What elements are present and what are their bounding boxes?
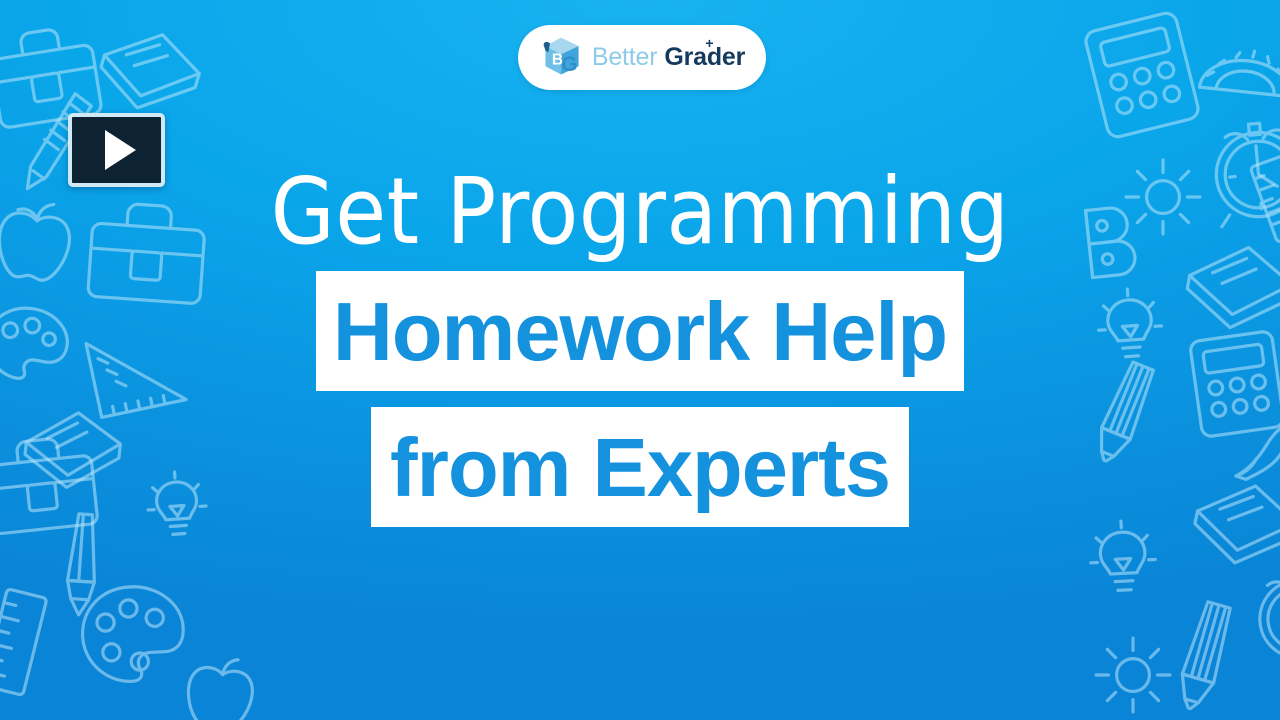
headline-line-3: from Experts [371,407,909,527]
book-icon [81,6,218,128]
headline-line-1: Get Programming [0,163,1280,261]
book-cube-bg-logo-icon: B G [539,34,585,80]
pencil-icon [1152,587,1259,720]
headline-row-3: from Experts [0,391,1280,527]
headline-line-2: Homework Help [316,271,964,391]
protractor-icon [1192,21,1280,107]
logo-plus-icon: + [705,36,713,50]
promo-banner: B G Better Grader + Get Programming Home… [0,0,1280,720]
svg-text:G: G [561,53,577,76]
alarm-clock-icon [1234,552,1280,676]
brand-logo[interactable]: B G Better Grader + [518,25,766,90]
logo-word-better: Better [592,45,658,70]
sun-icon [1092,634,1174,716]
headline-block: Get Programming Homework Help from Exper… [0,163,1280,527]
palette-icon [71,575,195,693]
apple-icon [173,647,268,720]
headline-row-2: Homework Help [0,261,1280,391]
calculator-icon [1073,2,1211,147]
ruler-icon [0,578,84,710]
lightbulb-icon [1082,516,1164,604]
logo-word-grader: Grader + [664,45,745,70]
